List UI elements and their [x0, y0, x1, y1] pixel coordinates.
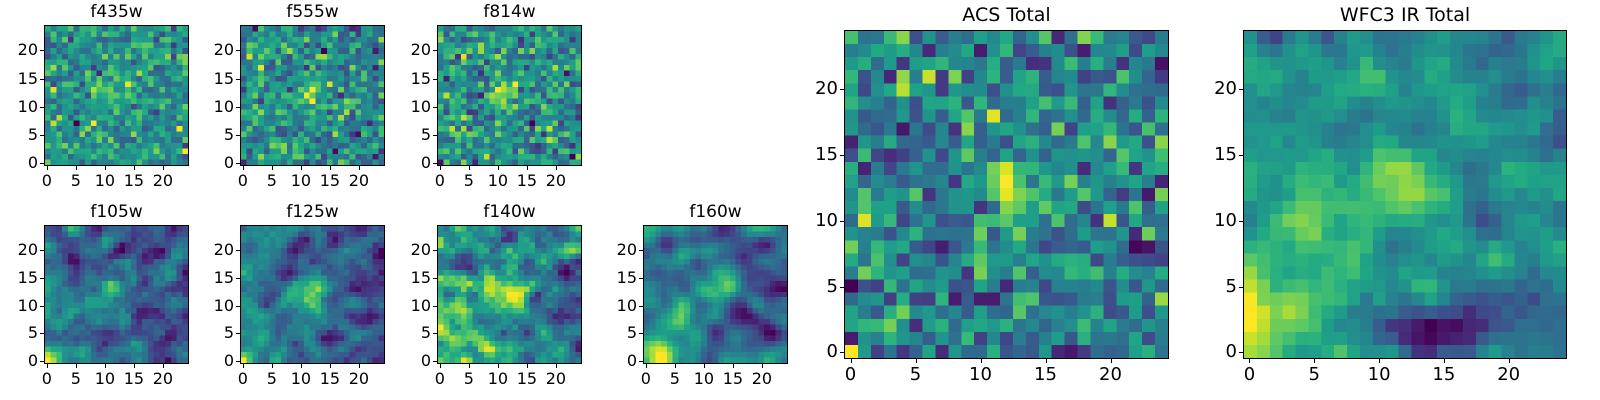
x-tick-label-f555w-5: 5 [267, 173, 277, 189]
y-tickmark-acs-total-0 [840, 352, 844, 353]
y-tickmark-f555w-10 [236, 107, 240, 108]
heatmap-image-f814w[interactable] [437, 25, 582, 166]
panel-title-acs-total: ACS Total [844, 6, 1169, 25]
x-tick-label-acs-total-0: 0 [845, 366, 856, 384]
y-tickmark-f555w-0 [236, 163, 240, 164]
x-tick-label-f105w-15: 15 [124, 371, 144, 387]
x-tickmark-f160w-10 [704, 364, 705, 368]
x-tickmark-f814w-5 [469, 166, 470, 170]
heatmap-canvas-f555w [241, 26, 384, 165]
x-tick-label-f160w-0: 0 [641, 371, 651, 387]
y-tickmark-f435w-20 [40, 50, 44, 51]
heatmap-canvas-f435w [45, 26, 188, 165]
heatmap-image-f160w[interactable] [643, 225, 788, 364]
x-tickmark-acs-total-10 [981, 359, 982, 363]
panel-title-f814w: f814w [437, 4, 582, 21]
heatmap-image-f105w[interactable] [44, 225, 189, 364]
y-tick-label-f814w-0: 0 [393, 155, 431, 171]
y-tickmark-f125w-15 [236, 278, 240, 279]
x-tick-label-f105w-20: 20 [153, 371, 173, 387]
y-tick-label-acs-total-0: 0 [800, 343, 838, 361]
x-tickmark-f435w-15 [134, 166, 135, 170]
x-tickmark-f160w-15 [733, 364, 734, 368]
y-tickmark-f160w-5 [639, 333, 643, 334]
x-tick-label-f140w-5: 5 [464, 371, 474, 387]
panel-title-f105w: f105w [44, 204, 189, 221]
y-tickmark-f140w-5 [433, 333, 437, 334]
x-tickmark-f105w-15 [134, 364, 135, 368]
y-tickmark-f140w-10 [433, 306, 437, 307]
y-tickmark-f555w-20 [236, 50, 240, 51]
panel-f555w: f555w0510152005101520 [240, 4, 385, 200]
x-tickmark-f435w-20 [163, 166, 164, 170]
x-tick-label-f555w-20: 20 [349, 173, 369, 189]
x-tick-label-f140w-20: 20 [546, 371, 566, 387]
x-tick-label-f814w-10: 10 [488, 173, 508, 189]
x-tick-label-wfc3-ir-total-5: 5 [1309, 366, 1320, 384]
x-tickmark-f140w-20 [556, 364, 557, 368]
x-tickmark-wfc3-ir-total-15 [1444, 359, 1445, 363]
x-tick-label-f555w-0: 0 [238, 173, 248, 189]
x-tickmark-f125w-10 [301, 364, 302, 368]
panel-title-f140w: f140w [437, 204, 582, 221]
y-tick-label-acs-total-10: 10 [800, 212, 838, 230]
x-tick-label-f814w-0: 0 [435, 173, 445, 189]
x-tickmark-f140w-15 [527, 364, 528, 368]
panel-f140w: f140w0510152005101520 [437, 204, 582, 398]
y-tick-label-f105w-5: 5 [0, 325, 38, 341]
y-tick-label-f555w-5: 5 [196, 127, 234, 143]
x-tickmark-wfc3-ir-total-10 [1379, 359, 1380, 363]
y-tickmark-f160w-15 [639, 278, 643, 279]
y-tickmark-f140w-20 [433, 250, 437, 251]
y-tick-label-f814w-20: 20 [393, 42, 431, 58]
x-tickmark-f160w-0 [646, 364, 647, 368]
y-tick-label-f160w-0: 0 [599, 353, 637, 369]
x-tickmark-f125w-20 [359, 364, 360, 368]
y-tick-label-f140w-15: 15 [393, 270, 431, 286]
heatmap-canvas-f125w [241, 226, 384, 363]
y-tick-label-f160w-10: 10 [599, 298, 637, 314]
x-tick-label-f140w-10: 10 [488, 371, 508, 387]
x-tick-label-f105w-5: 5 [71, 371, 81, 387]
y-tickmark-wfc3-ir-total-10 [1239, 221, 1243, 222]
y-tick-label-f435w-10: 10 [0, 99, 38, 115]
x-tick-label-acs-total-10: 10 [969, 366, 992, 384]
y-tick-label-f435w-15: 15 [0, 71, 38, 87]
x-tick-label-f435w-15: 15 [124, 173, 144, 189]
x-tick-label-f160w-10: 10 [694, 371, 714, 387]
x-tickmark-f555w-10 [301, 166, 302, 170]
x-tick-label-acs-total-15: 15 [1034, 366, 1057, 384]
y-tickmark-f555w-15 [236, 79, 240, 80]
x-tick-label-f814w-15: 15 [517, 173, 537, 189]
panel-title-f125w: f125w [240, 204, 385, 221]
y-tickmark-f125w-0 [236, 361, 240, 362]
heatmap-canvas-acs-total [845, 31, 1168, 358]
x-tickmark-f555w-20 [359, 166, 360, 170]
panel-title-wfc3-ir-total: WFC3 IR Total [1243, 6, 1567, 25]
y-tickmark-f555w-5 [236, 135, 240, 136]
y-tickmark-acs-total-20 [840, 89, 844, 90]
y-tick-label-f105w-10: 10 [0, 298, 38, 314]
heatmap-canvas-f160w [644, 226, 787, 363]
x-tickmark-wfc3-ir-total-5 [1314, 359, 1315, 363]
panel-title-f435w: f435w [44, 4, 189, 21]
y-tickmark-f814w-5 [433, 135, 437, 136]
x-tick-label-f814w-5: 5 [464, 173, 474, 189]
y-tickmark-f140w-0 [433, 361, 437, 362]
panel-f105w: f105w0510152005101520 [44, 204, 189, 398]
y-tickmark-f105w-20 [40, 250, 44, 251]
x-tickmark-f435w-0 [47, 166, 48, 170]
panel-f814w: f814w0510152005101520 [437, 4, 582, 200]
x-tickmark-f105w-5 [76, 364, 77, 368]
y-tickmark-f160w-20 [639, 250, 643, 251]
y-tickmark-wfc3-ir-total-15 [1239, 155, 1243, 156]
x-tickmark-acs-total-0 [851, 359, 852, 363]
x-tick-label-f160w-15: 15 [723, 371, 743, 387]
panel-acs-total: ACS Total0510152005101520 [844, 6, 1169, 393]
y-tick-label-f140w-0: 0 [393, 353, 431, 369]
y-tick-label-f435w-5: 5 [0, 127, 38, 143]
x-tickmark-f555w-0 [243, 166, 244, 170]
y-tickmark-f125w-20 [236, 250, 240, 251]
heatmap-canvas-f105w [45, 226, 188, 363]
panel-wfc3-ir-total: WFC3 IR Total0510152005101520 [1243, 6, 1567, 393]
x-tick-label-f160w-20: 20 [752, 371, 772, 387]
x-tickmark-f555w-15 [330, 166, 331, 170]
y-tick-label-f555w-10: 10 [196, 99, 234, 115]
x-tick-label-acs-total-20: 20 [1099, 366, 1122, 384]
y-tick-label-acs-total-15: 15 [800, 146, 838, 164]
y-tickmark-wfc3-ir-total-20 [1239, 89, 1243, 90]
y-tickmark-acs-total-5 [840, 287, 844, 288]
heatmap-image-f555w[interactable] [240, 25, 385, 166]
y-tick-label-wfc3-ir-total-15: 15 [1199, 146, 1237, 164]
y-tickmark-acs-total-10 [840, 221, 844, 222]
x-tick-label-wfc3-ir-total-0: 0 [1244, 366, 1255, 384]
y-tick-label-f105w-20: 20 [0, 242, 38, 258]
y-tick-label-f814w-5: 5 [393, 127, 431, 143]
y-tick-label-f814w-15: 15 [393, 71, 431, 87]
y-tickmark-f814w-20 [433, 50, 437, 51]
x-tickmark-f140w-10 [498, 364, 499, 368]
x-tickmark-f140w-5 [469, 364, 470, 368]
y-tickmark-f160w-0 [639, 361, 643, 362]
y-tick-label-f555w-20: 20 [196, 42, 234, 58]
x-tick-label-f105w-0: 0 [42, 371, 52, 387]
x-tickmark-f105w-10 [105, 364, 106, 368]
y-tick-label-f555w-0: 0 [196, 155, 234, 171]
y-tickmark-f105w-5 [40, 333, 44, 334]
x-tickmark-acs-total-15 [1046, 359, 1047, 363]
y-tick-label-f160w-20: 20 [599, 242, 637, 258]
y-tick-label-f125w-15: 15 [196, 270, 234, 286]
x-tick-label-f435w-0: 0 [42, 173, 52, 189]
x-tick-label-wfc3-ir-total-10: 10 [1368, 366, 1391, 384]
x-tick-label-f435w-5: 5 [71, 173, 81, 189]
x-tickmark-wfc3-ir-total-20 [1509, 359, 1510, 363]
x-tickmark-f125w-0 [243, 364, 244, 368]
x-tick-label-wfc3-ir-total-15: 15 [1432, 366, 1455, 384]
x-tick-label-f555w-15: 15 [320, 173, 340, 189]
y-tickmark-f140w-15 [433, 278, 437, 279]
y-tick-label-f140w-10: 10 [393, 298, 431, 314]
y-tick-label-f125w-5: 5 [196, 325, 234, 341]
heatmap-image-wfc3-ir-total[interactable] [1243, 30, 1567, 359]
x-tickmark-f814w-10 [498, 166, 499, 170]
y-tick-label-f125w-10: 10 [196, 298, 234, 314]
y-tickmark-f435w-15 [40, 79, 44, 80]
y-tick-label-f160w-15: 15 [599, 270, 637, 286]
x-tick-label-f140w-0: 0 [435, 371, 445, 387]
x-tick-label-f125w-0: 0 [238, 371, 248, 387]
y-tick-label-f814w-10: 10 [393, 99, 431, 115]
x-tickmark-wfc3-ir-total-0 [1249, 359, 1250, 363]
x-tick-label-f435w-20: 20 [153, 173, 173, 189]
y-tickmark-f435w-10 [40, 107, 44, 108]
panel-title-f160w: f160w [643, 204, 788, 221]
x-tick-label-f125w-15: 15 [320, 371, 340, 387]
y-tick-label-f105w-15: 15 [0, 270, 38, 286]
x-tickmark-f814w-20 [556, 166, 557, 170]
y-tickmark-f105w-15 [40, 278, 44, 279]
y-tickmark-f814w-10 [433, 107, 437, 108]
x-tickmark-f105w-0 [47, 364, 48, 368]
y-tick-label-wfc3-ir-total-5: 5 [1199, 278, 1237, 296]
y-tick-label-f435w-0: 0 [0, 155, 38, 171]
y-tick-label-f435w-20: 20 [0, 42, 38, 58]
x-tick-label-f125w-10: 10 [291, 371, 311, 387]
y-tickmark-f814w-15 [433, 79, 437, 80]
y-tick-label-f105w-0: 0 [0, 353, 38, 369]
heatmap-image-f435w[interactable] [44, 25, 189, 166]
x-tick-label-f125w-20: 20 [349, 371, 369, 387]
y-tick-label-wfc3-ir-total-20: 20 [1199, 80, 1237, 98]
x-tick-label-f814w-20: 20 [546, 173, 566, 189]
x-tickmark-f555w-5 [272, 166, 273, 170]
y-tick-label-f140w-20: 20 [393, 242, 431, 258]
y-tickmark-f125w-5 [236, 333, 240, 334]
x-tickmark-f125w-5 [272, 364, 273, 368]
x-tickmark-f125w-15 [330, 364, 331, 368]
y-tick-label-wfc3-ir-total-0: 0 [1199, 343, 1237, 361]
x-tick-label-f125w-5: 5 [267, 371, 277, 387]
panel-f160w: f160w0510152005101520 [643, 204, 788, 398]
y-tick-label-wfc3-ir-total-10: 10 [1199, 212, 1237, 230]
heatmap-canvas-f140w [438, 226, 581, 363]
x-tickmark-f105w-20 [163, 364, 164, 368]
heatmap-image-f125w[interactable] [240, 225, 385, 364]
heatmap-canvas-f814w [438, 26, 581, 165]
x-tickmark-f814w-15 [527, 166, 528, 170]
y-tickmark-wfc3-ir-total-5 [1239, 287, 1243, 288]
x-tick-label-f435w-10: 10 [95, 173, 115, 189]
heatmap-canvas-wfc3-ir-total [1244, 31, 1566, 358]
x-tick-label-wfc3-ir-total-20: 20 [1497, 366, 1520, 384]
x-tickmark-f160w-20 [762, 364, 763, 368]
y-tickmark-f160w-10 [639, 306, 643, 307]
y-tick-label-f555w-15: 15 [196, 71, 234, 87]
y-tickmark-f435w-5 [40, 135, 44, 136]
x-tick-label-f105w-10: 10 [95, 371, 115, 387]
x-tick-label-acs-total-5: 5 [910, 366, 921, 384]
x-tickmark-f814w-0 [440, 166, 441, 170]
x-tickmark-f435w-5 [76, 166, 77, 170]
y-tickmark-wfc3-ir-total-0 [1239, 352, 1243, 353]
y-tickmark-f435w-0 [40, 163, 44, 164]
y-tickmark-f105w-10 [40, 306, 44, 307]
y-tick-label-acs-total-20: 20 [800, 80, 838, 98]
x-tick-label-f140w-15: 15 [517, 371, 537, 387]
x-tickmark-f140w-0 [440, 364, 441, 368]
y-tick-label-f160w-5: 5 [599, 325, 637, 341]
heatmap-image-acs-total[interactable] [844, 30, 1169, 359]
y-tickmark-f814w-0 [433, 163, 437, 164]
x-tickmark-f160w-5 [675, 364, 676, 368]
y-tick-label-f125w-0: 0 [196, 353, 234, 369]
y-tick-label-f125w-20: 20 [196, 242, 234, 258]
x-tickmark-acs-total-5 [916, 359, 917, 363]
y-tick-label-f140w-5: 5 [393, 325, 431, 341]
x-tick-label-f555w-10: 10 [291, 173, 311, 189]
y-tickmark-f125w-10 [236, 306, 240, 307]
x-tick-label-f160w-5: 5 [670, 371, 680, 387]
y-tickmark-acs-total-15 [840, 155, 844, 156]
y-tick-label-acs-total-5: 5 [800, 278, 838, 296]
x-tickmark-acs-total-20 [1111, 359, 1112, 363]
panel-title-f555w: f555w [240, 4, 385, 21]
x-tickmark-f435w-10 [105, 166, 106, 170]
heatmap-image-f140w[interactable] [437, 225, 582, 364]
y-tickmark-f105w-0 [40, 361, 44, 362]
panel-f125w: f125w0510152005101520 [240, 204, 385, 398]
panel-f435w: f435w0510152005101520 [44, 4, 189, 200]
